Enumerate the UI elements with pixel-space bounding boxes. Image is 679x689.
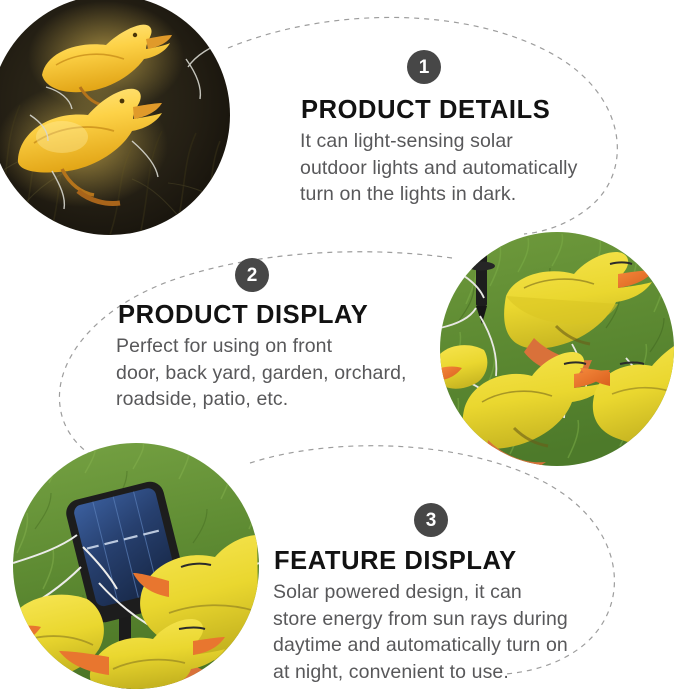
photo-product-display [440,232,674,466]
body-line: at night, convenient to use. [273,659,568,686]
photo-feature-display [13,443,259,689]
step-badge-1: 1 [407,50,441,84]
body-line: It can light-sensing solar [300,128,577,155]
body-line: store energy from sun rays during [273,606,568,633]
photo-product-details [0,0,230,235]
section-body-3: Solar powered design, it can store energ… [273,579,568,685]
infographic-canvas: 1 PRODUCT DETAILS It can light-sensing s… [0,0,679,689]
body-line: outdoor lights and automatically [300,155,577,182]
body-line: daytime and automatically turn on [273,632,568,659]
body-line: turn on the lights in dark. [300,181,577,208]
body-line: Solar powered design, it can [273,579,568,606]
section-body-2: Perfect for using on front door, back ya… [116,333,407,413]
section-heading-2: PRODUCT DISPLAY [118,303,368,329]
step-badge-3: 3 [414,503,448,537]
section-heading-3: FEATURE DISPLAY [274,549,517,575]
section-heading-1: PRODUCT DETAILS [301,98,550,124]
body-line: roadside, patio, etc. [116,386,407,413]
body-line: door, back yard, garden, orchard, [116,360,407,387]
body-line: Perfect for using on front [116,333,407,360]
section-body-1: It can light-sensing solar outdoor light… [300,128,577,208]
step-badge-2: 2 [235,258,269,292]
